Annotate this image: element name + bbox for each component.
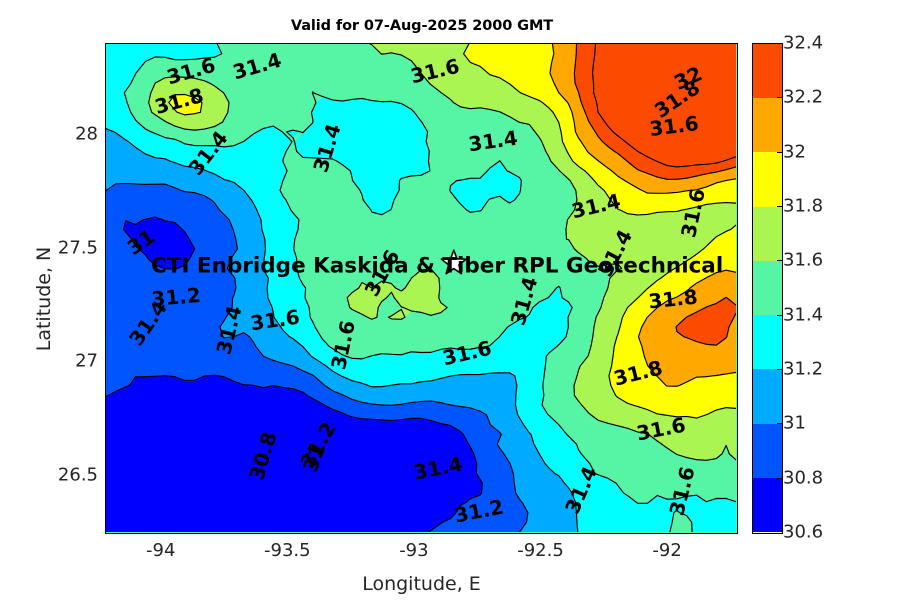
sst-contour-figure: Valid for 07-Aug-2025 2000 GMT 31.631.63… [0, 0, 900, 600]
colorbar-tick-0: 32.4 [783, 33, 823, 54]
x-tick-0: -94 [146, 540, 175, 561]
colorbar-tick-9: 30.6 [783, 522, 823, 543]
colorbar-tick-2: 32 [783, 141, 806, 162]
chart-title: Valid for 07-Aug-2025 2000 GMT [105, 18, 739, 34]
colorbar-tick-8: 30.8 [783, 467, 823, 488]
y-axis-label: Latitude, N [33, 179, 55, 419]
y-tick-0: 28 [40, 123, 98, 144]
y-tick-3: 26.5 [40, 464, 98, 485]
colorbar-tickmarks [752, 43, 783, 534]
colorbar-tick-5: 31.4 [783, 304, 823, 325]
contour-label-text: 31.8 [647, 284, 699, 313]
colorbar-tick-3: 31.8 [783, 196, 823, 217]
x-tick-2: -93 [399, 540, 428, 561]
colorbar-tick-6: 31.2 [783, 359, 823, 380]
x-tick-3: -92.5 [517, 540, 564, 561]
site-annotation-label: CTI Enbridge Kaskida & Tiber RPL Geotech… [151, 254, 723, 279]
contour-plot-svg: 31.631.631.431.431.831.831.631.6323231.8… [106, 44, 736, 532]
plot-area[interactable]: 31.631.631.431.431.831.831.631.6323231.8… [105, 43, 738, 534]
colorbar-tick-7: 31 [783, 413, 806, 434]
x-tick-1: -93.5 [264, 540, 311, 561]
x-tick-4: -92 [652, 540, 681, 561]
colorbar-tick-4: 31.6 [783, 250, 823, 271]
contour-label: 31.831.8 [647, 284, 699, 313]
colorbar-tick-1: 32.2 [783, 87, 823, 108]
x-axis-label: Longitude, E [105, 573, 738, 595]
